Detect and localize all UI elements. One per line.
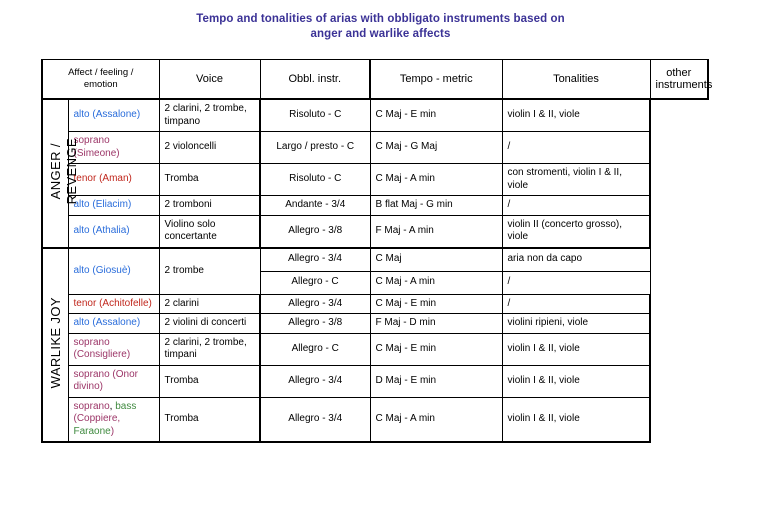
voice-label: alto (Giosuè) bbox=[74, 265, 131, 276]
voice-label: soprano (Simeone) bbox=[74, 135, 120, 159]
cell-tonalities: D Maj - E min bbox=[370, 365, 502, 397]
table-row: tenor (Aman)TrombaRisoluto - CC Maj - A … bbox=[42, 164, 708, 196]
cell-tempo-metric: Allegro - 3/4 bbox=[260, 365, 370, 397]
column-header-obbl-instr: Obbl. instr. bbox=[260, 60, 370, 100]
sub-row: Allegro - C bbox=[261, 271, 370, 294]
cell-other-instruments: violin I & II, viole bbox=[502, 397, 650, 442]
sub-row: aria non da capo bbox=[503, 249, 650, 272]
cell-voice: soprano (Onor divino) bbox=[68, 365, 159, 397]
voice-label: tenor (Achitofelle) bbox=[74, 298, 152, 309]
cell-other-instruments: violini ripieni, viole bbox=[502, 314, 650, 334]
cell-obbl-instr: Violino solo concertante bbox=[159, 215, 260, 248]
column-header-other-instruments: other instruments bbox=[650, 60, 708, 100]
table-row: soprano, bass (Coppiere, Faraone)TrombaA… bbox=[42, 397, 708, 442]
group-label-warlike-joy: WARLIKE JOY bbox=[42, 248, 68, 443]
cell-voice: tenor (Achitofelle) bbox=[68, 294, 159, 314]
page-root: Tempo and tonalities of arias with obbli… bbox=[0, 0, 761, 506]
cell-other-instruments: / bbox=[502, 132, 650, 164]
column-header-tonalities: Tonalities bbox=[502, 60, 650, 100]
sub-row: C Maj bbox=[371, 249, 502, 272]
cell-other-instruments: violin I & II, viole bbox=[502, 333, 650, 365]
cell-tonalities: C Maj - A min bbox=[370, 164, 502, 196]
table-header: Affect / feeling / emotion Voice Obbl. i… bbox=[42, 60, 708, 100]
cell-tempo-metric: Allegro - 3/4 bbox=[260, 397, 370, 442]
cell-tonalities-value: C Maj bbox=[371, 249, 502, 272]
voice-label: alto (Eliacim) bbox=[74, 199, 132, 210]
group-label-text: ANGER / REVENGE bbox=[48, 138, 80, 204]
cell-tempo-metric: Risoluto - C bbox=[260, 99, 370, 132]
cell-tonalities: F Maj - A min bbox=[370, 215, 502, 248]
table-row: alto (Athalia)Violino solo concertanteAl… bbox=[42, 215, 708, 248]
cell-tempo-metric: Allegro - 3/8 bbox=[260, 314, 370, 334]
tempo-tonalities-table: Affect / feeling / emotion Voice Obbl. i… bbox=[41, 59, 709, 443]
cell-tempo-metric-value: Allegro - C bbox=[261, 271, 370, 294]
voice-label: alto (Assalone) bbox=[74, 317, 141, 328]
cell-obbl-instr: 2 trombe bbox=[159, 248, 260, 295]
cell-tempo-metric: Andante - 3/4 bbox=[260, 196, 370, 216]
cell-tonalities: C Maj - A min bbox=[370, 397, 502, 442]
voice-label: tenor (Aman) bbox=[74, 173, 132, 184]
cell-tonalities: C Maj - E min bbox=[370, 99, 502, 132]
cell-other-instruments: aria non da capo/ bbox=[502, 248, 650, 295]
cell-tempo-metric: Risoluto - C bbox=[260, 164, 370, 196]
cell-other-instruments: violin II (concerto grosso), viole bbox=[502, 215, 650, 248]
cell-obbl-instr: Tromba bbox=[159, 397, 260, 442]
cell-tempo-metric: Allegro - C bbox=[260, 333, 370, 365]
cell-other-instruments: con stromenti, violin I & II, viole bbox=[502, 164, 650, 196]
voice-part: (Coppiere, bbox=[74, 413, 121, 424]
cell-obbl-instr: 2 violini di concerti bbox=[159, 314, 260, 334]
cell-obbl-instr: 2 clarini, 2 trombe, timpano bbox=[159, 99, 260, 132]
table-row: soprano (Simeone)2 violoncelliLargo / pr… bbox=[42, 132, 708, 164]
cell-voice: alto (Athalia) bbox=[68, 215, 159, 248]
table-row: soprano (Consigliere)2 clarini, 2 trombe… bbox=[42, 333, 708, 365]
sub-row: Allegro - 3/4 bbox=[261, 249, 370, 272]
table-row: ANGER / REVENGEalto (Assalone)2 clarini,… bbox=[42, 99, 708, 132]
table-row: alto (Assalone)2 violini di concertiAlle… bbox=[42, 314, 708, 334]
cell-other-instruments-value: aria non da capo bbox=[503, 249, 650, 272]
cell-voice: alto (Assalone) bbox=[68, 314, 159, 334]
group-label-anger-revenge: ANGER / REVENGE bbox=[42, 99, 68, 248]
cell-tonalities: F Maj - D min bbox=[370, 314, 502, 334]
page-title-line-1: Tempo and tonalities of arias with obbli… bbox=[0, 12, 761, 27]
cell-tonalities: C Maj - E min bbox=[370, 294, 502, 314]
cell-obbl-instr: Tromba bbox=[159, 365, 260, 397]
table-row: soprano (Onor divino)TrombaAllegro - 3/4… bbox=[42, 365, 708, 397]
cell-tempo-metric: Allegro - 3/4 bbox=[260, 294, 370, 314]
cell-voice: soprano (Consigliere) bbox=[68, 333, 159, 365]
cell-tonalities: B flat Maj - G min bbox=[370, 196, 502, 216]
cell-voice: alto (Assalone) bbox=[68, 99, 159, 132]
cell-voice: tenor (Aman) bbox=[68, 164, 159, 196]
table-body: ANGER / REVENGEalto (Assalone)2 clarini,… bbox=[42, 99, 708, 442]
sub-row: C Maj - A min bbox=[371, 271, 502, 294]
voice-part: Faraone bbox=[74, 426, 111, 437]
cell-tonalities: C Maj - G Maj bbox=[370, 132, 502, 164]
cell-tonalities-value: C Maj - A min bbox=[371, 271, 502, 294]
cell-obbl-instr: 2 clarini bbox=[159, 294, 260, 314]
cell-voice: soprano, bass (Coppiere, Faraone) bbox=[68, 397, 159, 442]
cell-tempo-metric-value: Allegro - 3/4 bbox=[261, 249, 370, 272]
table-row: tenor (Achitofelle)2 clariniAllegro - 3/… bbox=[42, 294, 708, 314]
cell-other-instruments: / bbox=[502, 294, 650, 314]
cell-other-instruments: violin I & II, viole bbox=[502, 365, 650, 397]
sub-row: / bbox=[503, 271, 650, 294]
cell-tempo-metric: Allegro - 3/8 bbox=[260, 215, 370, 248]
cell-tempo-metric: Allegro - 3/4Allegro - C bbox=[260, 248, 370, 295]
voice-label: alto (Athalia) bbox=[74, 225, 130, 236]
page-title-line-2: anger and warlike affects bbox=[0, 27, 761, 42]
column-header-affect: Affect / feeling / emotion bbox=[42, 60, 159, 100]
cell-voice: alto (Eliacim) bbox=[68, 196, 159, 216]
cell-other-instruments: / bbox=[502, 196, 650, 216]
cell-voice: soprano (Simeone) bbox=[68, 132, 159, 164]
voice-label: alto (Assalone) bbox=[74, 109, 141, 120]
cell-other-instruments-value: / bbox=[503, 271, 650, 294]
column-header-voice: Voice bbox=[159, 60, 260, 100]
cell-obbl-instr: Tromba bbox=[159, 164, 260, 196]
cell-obbl-instr: 2 clarini, 2 trombe, timpani bbox=[159, 333, 260, 365]
cell-tempo-metric: Largo / presto - C bbox=[260, 132, 370, 164]
table-row: WARLIKE JOYalto (Giosuè)2 trombeAllegro … bbox=[42, 248, 708, 295]
voice-part: ) bbox=[111, 426, 114, 437]
tempo-tonalities-table-wrap: Affect / feeling / emotion Voice Obbl. i… bbox=[41, 59, 709, 443]
voice-part: bass bbox=[115, 401, 136, 412]
cell-obbl-instr: 2 violoncelli bbox=[159, 132, 260, 164]
table-header-row: Affect / feeling / emotion Voice Obbl. i… bbox=[42, 60, 708, 100]
voice-label: soprano (Onor divino) bbox=[74, 369, 138, 393]
page-title: Tempo and tonalities of arias with obbli… bbox=[0, 12, 761, 42]
cell-tonalities: C MajC Maj - A min bbox=[370, 248, 502, 295]
cell-obbl-instr: 2 tromboni bbox=[159, 196, 260, 216]
column-header-tempo-metric: Tempo - metric bbox=[370, 60, 502, 100]
voice-label: soprano (Consigliere) bbox=[74, 337, 131, 361]
cell-tonalities: C Maj - E min bbox=[370, 333, 502, 365]
group-label-text: WARLIKE JOY bbox=[48, 297, 64, 388]
table-row: alto (Eliacim)2 tromboniAndante - 3/4B f… bbox=[42, 196, 708, 216]
cell-voice: alto (Giosuè) bbox=[68, 248, 159, 295]
cell-other-instruments: violin I & II, viole bbox=[502, 99, 650, 132]
voice-part: soprano bbox=[74, 401, 110, 412]
